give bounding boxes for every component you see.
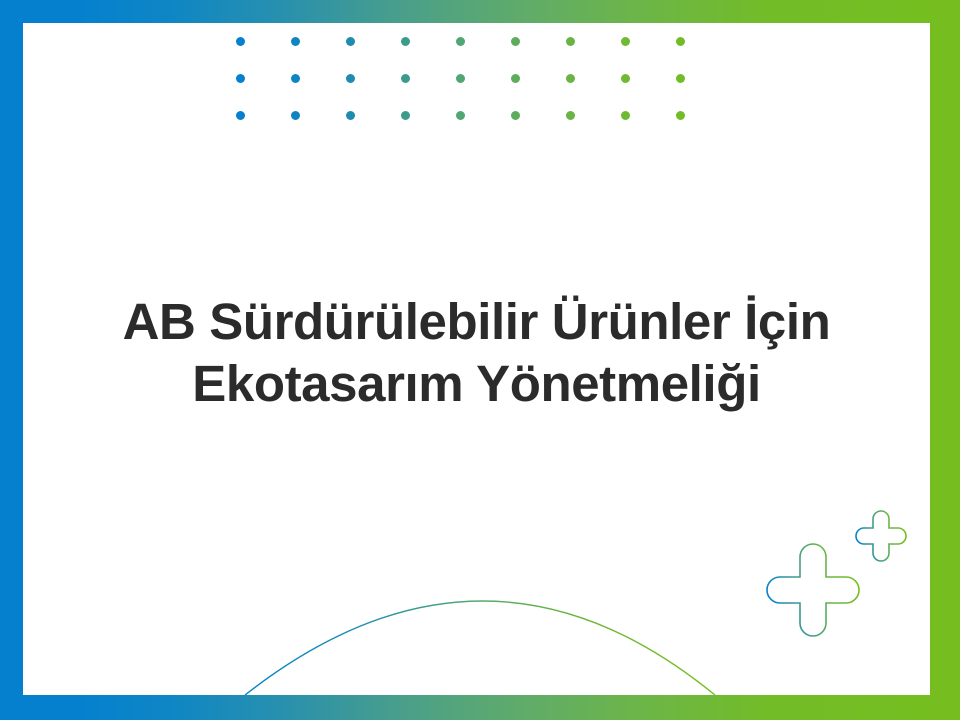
- grid-dot-icon: [346, 37, 355, 46]
- grid-dot-icon: [236, 111, 245, 120]
- title-line-1: AB Sürdürülebilir Ürünler İçin: [63, 291, 890, 353]
- grid-dot-icon: [236, 74, 245, 83]
- dot-grid-cell: [291, 111, 346, 148]
- dot-grid-cell: [511, 74, 566, 111]
- grid-dot-icon: [236, 37, 245, 46]
- dot-grid-cell: [346, 111, 401, 148]
- grid-dot-icon: [566, 111, 575, 120]
- gradient-arc-decoration: [23, 535, 930, 695]
- title-line-2: Ekotasarım Yönetmeliği: [63, 353, 890, 415]
- page-title: AB Sürdürülebilir Ürünler İçin Ekotasarı…: [23, 291, 930, 415]
- dot-grid-cell: [346, 74, 401, 111]
- dot-grid-cell: [456, 74, 511, 111]
- dot-grid-cell: [566, 74, 621, 111]
- grid-dot-icon: [676, 111, 685, 120]
- plus-outline-small: [856, 511, 906, 561]
- grid-dot-icon: [566, 74, 575, 83]
- arc-path: [245, 601, 715, 695]
- dot-grid-cell: [456, 37, 511, 74]
- plus-decorations: [730, 495, 930, 695]
- dot-grid-cell: [291, 37, 346, 74]
- dot-grid-cell: [236, 74, 291, 111]
- dot-grid-cell: [401, 37, 456, 74]
- grid-dot-icon: [621, 37, 630, 46]
- dot-grid-decoration: [236, 37, 731, 148]
- dot-grid-cell: [236, 37, 291, 74]
- dot-grid-cell: [676, 37, 731, 74]
- dot-grid-cell: [676, 74, 731, 111]
- dot-grid-cell: [676, 111, 731, 148]
- grid-dot-icon: [511, 111, 520, 120]
- dot-grid-cell: [236, 111, 291, 148]
- grid-dot-icon: [291, 111, 300, 120]
- grid-dot-icon: [291, 74, 300, 83]
- title-slide: AB Sürdürülebilir Ürünler İçin Ekotasarı…: [0, 0, 960, 720]
- grid-dot-icon: [676, 37, 685, 46]
- dot-grid-cell: [621, 74, 676, 111]
- grid-dot-icon: [401, 37, 410, 46]
- dot-grid-cell: [401, 111, 456, 148]
- plus-outline-large: [767, 544, 859, 636]
- grid-dot-icon: [621, 111, 630, 120]
- grid-dot-icon: [456, 37, 465, 46]
- dot-grid-cell: [401, 74, 456, 111]
- dot-grid-cell: [621, 37, 676, 74]
- dot-grid-cell: [621, 111, 676, 148]
- grid-dot-icon: [401, 111, 410, 120]
- dot-grid-cell: [291, 74, 346, 111]
- grid-dot-icon: [566, 37, 575, 46]
- dot-grid-cell: [346, 37, 401, 74]
- dot-grid-cell: [566, 37, 621, 74]
- grid-dot-icon: [456, 111, 465, 120]
- dot-grid-cell: [511, 37, 566, 74]
- grid-dot-icon: [511, 74, 520, 83]
- dot-grid-cell: [511, 111, 566, 148]
- grid-dot-icon: [346, 111, 355, 120]
- grid-dot-icon: [346, 74, 355, 83]
- grid-dot-icon: [511, 37, 520, 46]
- grid-dot-icon: [676, 74, 685, 83]
- grid-dot-icon: [621, 74, 630, 83]
- dot-grid-cell: [456, 111, 511, 148]
- dot-grid-cell: [566, 111, 621, 148]
- grid-dot-icon: [456, 74, 465, 83]
- slide-canvas: AB Sürdürülebilir Ürünler İçin Ekotasarı…: [23, 23, 930, 695]
- grid-dot-icon: [401, 74, 410, 83]
- grid-dot-icon: [291, 37, 300, 46]
